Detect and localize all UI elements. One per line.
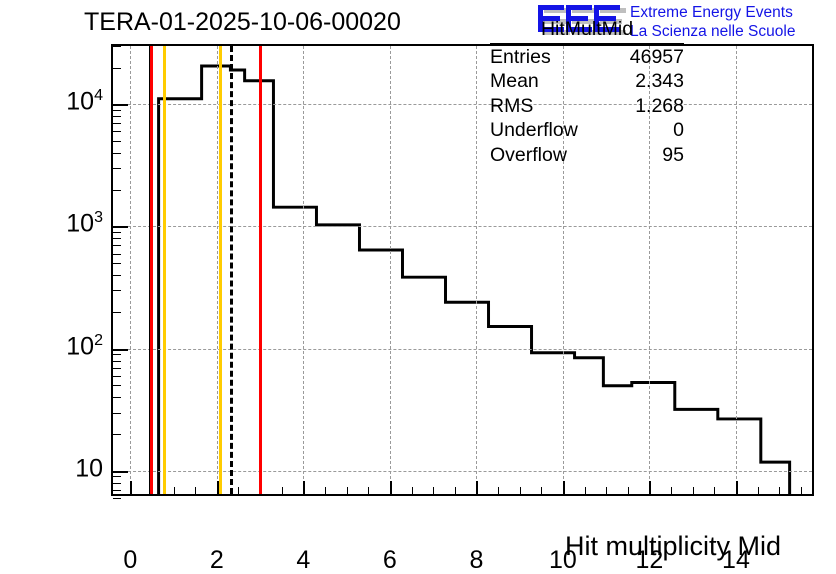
y-axis-tick-minor (113, 131, 121, 132)
x-axis-tick-minor (412, 487, 413, 494)
marker-line-threshold-red-low (150, 46, 153, 494)
y-axis-tick-minor (113, 110, 121, 111)
stats-row: RMS1.268 (490, 94, 684, 119)
x-axis-tick-minor (585, 487, 586, 494)
y-axis-tick-major (113, 226, 128, 228)
x-axis-tick-minor (325, 487, 326, 494)
marker-line-range-orange-low (163, 46, 166, 494)
x-axis-tick-minor (238, 487, 239, 494)
y-axis-tick-minor (113, 232, 121, 233)
page-title: TERA-01-2025-10-06-00020 (84, 8, 401, 36)
plot-canvas: TERA-01-2025-10-06-00020 (0, 0, 836, 572)
x-axis-tick-major (390, 481, 392, 494)
gridline-horizontal (113, 226, 812, 227)
gridline-vertical (217, 46, 218, 494)
y-axis-tick-major (113, 471, 128, 473)
stats-row: Entries46957 (490, 45, 684, 70)
y-axis-tick-minor (113, 434, 121, 435)
x-axis-tick-label: 4 (296, 546, 310, 574)
stats-value: 2.343 (635, 70, 684, 94)
stats-box: HitMultMid Entries46957Mean2.343RMS1.268… (490, 18, 684, 167)
x-axis-tick-minor (174, 487, 175, 494)
marker-line-range-orange-high (219, 46, 222, 494)
x-axis-tick-label: 0 (123, 546, 137, 574)
gridline-horizontal (113, 471, 812, 472)
stats-title: HitMultMid (490, 18, 684, 45)
x-axis-tick-label: 8 (469, 546, 483, 574)
plot-frame: 02468101214 (111, 44, 814, 496)
y-axis-tick-minor (113, 254, 121, 255)
x-axis-tick-minor (195, 487, 196, 494)
x-axis-tick-minor (520, 487, 521, 494)
stats-key: Underflow (490, 119, 578, 143)
x-axis-tick-major (736, 481, 738, 494)
x-axis-tick-minor (347, 487, 348, 494)
stats-key: Overflow (490, 144, 567, 168)
y-axis-tick-minor (113, 368, 121, 369)
gridline-horizontal (113, 349, 812, 350)
x-axis-tick-major (303, 481, 305, 494)
stats-value: 46957 (630, 46, 684, 70)
y-axis-tick-label: 104 (66, 90, 103, 115)
y-axis-tick-minor (113, 245, 121, 246)
y-axis-tick-minor (113, 476, 121, 477)
y-axis-tick-major (113, 349, 128, 351)
marker-line-threshold-red-high (259, 46, 262, 494)
y-axis-tick-label: 10 (75, 456, 103, 481)
y-axis-tick-label: 102 (66, 334, 103, 359)
y-axis-tick-label: 103 (66, 212, 103, 237)
stats-value: 95 (662, 144, 684, 168)
y-axis-tick-minor (113, 153, 121, 154)
histogram-step-line (159, 66, 790, 494)
y-axis-tick-minor (113, 46, 121, 47)
y-axis-tick-minor (113, 312, 121, 313)
y-axis-tick-minor (113, 116, 121, 117)
histogram-svg (113, 46, 812, 494)
y-axis-tick-minor (113, 263, 121, 264)
stats-value: 1.268 (635, 95, 684, 119)
y-axis-tick-minor (113, 483, 121, 484)
x-axis-tick-minor (693, 487, 694, 494)
y-axis-tick-minor (113, 490, 121, 491)
y-axis-tick-minor (113, 168, 121, 169)
x-axis-tick-minor (714, 487, 715, 494)
y-axis-tick-minor (113, 385, 121, 386)
x-axis-title: Hit multiplicity Mid (565, 530, 781, 562)
y-axis-tick-minor (113, 290, 121, 291)
x-axis-tick-minor (541, 487, 542, 494)
y-axis-tick-minor (113, 376, 121, 377)
x-axis-tick-major (563, 481, 565, 494)
x-axis-tick-minor (801, 487, 802, 494)
x-axis-tick-major (649, 481, 651, 494)
x-axis-tick-minor (282, 487, 283, 494)
y-axis-tick-major (113, 104, 128, 106)
y-axis-tick-minor (113, 123, 121, 124)
y-axis-tick-minor (113, 413, 121, 414)
x-axis-tick-minor (628, 487, 629, 494)
stats-rows: Entries46957Mean2.343RMS1.268Underflow0O… (490, 45, 684, 168)
y-axis-tick-minor (113, 361, 121, 362)
stats-row: Mean2.343 (490, 69, 684, 94)
gridline-vertical (130, 46, 131, 494)
stats-row: Underflow0 (490, 118, 684, 143)
y-axis-tick-minor (113, 68, 121, 69)
x-axis-tick-label: 2 (210, 546, 224, 574)
x-axis-tick-minor (433, 487, 434, 494)
gridline-vertical (476, 46, 477, 494)
gridline-horizontal (113, 104, 812, 105)
x-axis-tick-major (476, 481, 478, 494)
y-axis-tick-minor (113, 238, 121, 239)
stats-value: 0 (673, 119, 684, 143)
x-axis-tick-minor (671, 487, 672, 494)
gridline-vertical (390, 46, 391, 494)
x-axis-tick-minor (758, 487, 759, 494)
y-axis-tick-minor (113, 275, 121, 276)
stats-key: Entries (490, 46, 551, 70)
y-axis-tick-minor (113, 354, 121, 355)
x-axis-tick-minor (368, 487, 369, 494)
marker-line-mean-dashed (230, 46, 233, 494)
stats-key: Mean (490, 70, 539, 94)
y-axis-tick-minor (113, 397, 121, 398)
x-axis-tick-minor (606, 487, 607, 494)
y-axis-tick-minor (113, 141, 121, 142)
gridline-vertical (303, 46, 304, 494)
gridline-vertical (736, 46, 737, 494)
x-axis-tick-minor (498, 487, 499, 494)
stats-row: Overflow95 (490, 143, 684, 168)
y-axis-tick-minor (113, 190, 121, 191)
stats-key: RMS (490, 95, 533, 119)
x-axis-tick-minor (455, 487, 456, 494)
x-axis-tick-label: 6 (383, 546, 397, 574)
y-axis-tick-minor (113, 498, 121, 499)
x-axis-tick-minor (779, 487, 780, 494)
x-axis-tick-major (130, 481, 132, 494)
